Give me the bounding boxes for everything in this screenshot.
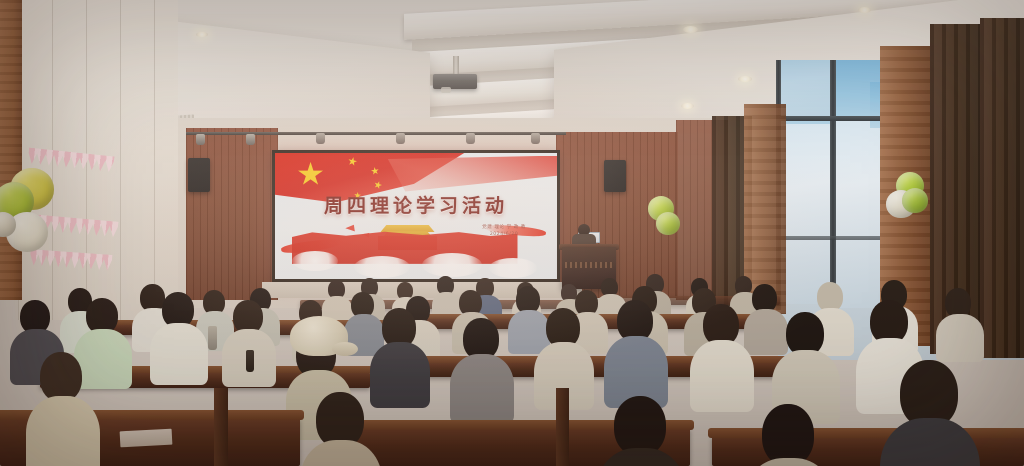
attendee-head (762, 404, 814, 466)
water-bottle (246, 350, 254, 372)
balloon-green-right-2 (656, 212, 680, 235)
led-screen-content: 周四理论学习活动 党建 理论 学 政 教 2024/6/20 (275, 153, 557, 279)
led-display-screen: 周四理论学习活动 党建 理论 学 政 教 2024/6/20 (272, 150, 560, 282)
subtitle-line-2: 2024/6/20 (482, 231, 526, 238)
presentation-title: 周四理论学习活动 (275, 191, 557, 218)
track-light-rail (186, 132, 566, 135)
attendee-body (26, 396, 100, 466)
cloud-decor (422, 253, 482, 277)
presentation-subtitle: 党建 理论 学 政 教 2024/6/20 (482, 224, 526, 238)
recessed-downlight (196, 32, 208, 37)
cloud-decor (489, 258, 537, 278)
track-light (396, 133, 405, 144)
track-light (531, 133, 540, 144)
subtitle-line-1: 党建 理论 学 政 教 (482, 224, 526, 231)
cap-brim (332, 342, 358, 356)
cloud-decor (292, 251, 338, 271)
attendee-body (936, 314, 984, 362)
recessed-downlight (683, 26, 698, 33)
recessed-downlight (738, 76, 752, 82)
left-wall-wood-trim (0, 0, 22, 300)
attendee-head (614, 396, 666, 456)
attendee-body (880, 418, 980, 466)
attendee-body (744, 309, 788, 355)
projector-lens (441, 87, 451, 93)
track-light (466, 133, 475, 144)
track-light (246, 134, 255, 145)
cloud-decor (354, 256, 410, 278)
window-mullion (830, 60, 836, 320)
window-pane (778, 60, 832, 120)
notebook-on-desk (120, 429, 173, 448)
projector-mount-pole (453, 56, 459, 76)
wall-mounted-loudspeaker (188, 158, 210, 192)
pew-backrest-top (708, 428, 1024, 438)
pew-leg (214, 388, 228, 466)
ceiling-projector (433, 74, 477, 89)
attendee-head (40, 352, 82, 402)
pew-leg (556, 388, 569, 466)
wood-wall-panel-center (186, 128, 278, 300)
attendee-body (370, 342, 430, 408)
dark-blackout-curtain (980, 18, 1024, 358)
attendee-body (74, 329, 132, 389)
podium-front-trim (565, 262, 613, 268)
water-bottle (208, 326, 217, 350)
track-light (316, 133, 325, 144)
attendee-body (150, 323, 208, 385)
wall-mounted-loudspeaker (604, 160, 626, 192)
attendee-body (690, 340, 754, 412)
lecture-hall-photo: 周四理论学习活动 党建 理论 学 政 教 2024/6/20 (0, 0, 1024, 466)
recessed-downlight (858, 7, 871, 13)
dove-icon (345, 222, 356, 231)
recessed-downlight (681, 103, 694, 109)
attendee-body (450, 354, 514, 424)
balloon-green-far-right-2 (902, 188, 928, 213)
window-pane (778, 124, 832, 304)
track-light (196, 134, 205, 145)
gate-upper-roof (377, 225, 439, 233)
